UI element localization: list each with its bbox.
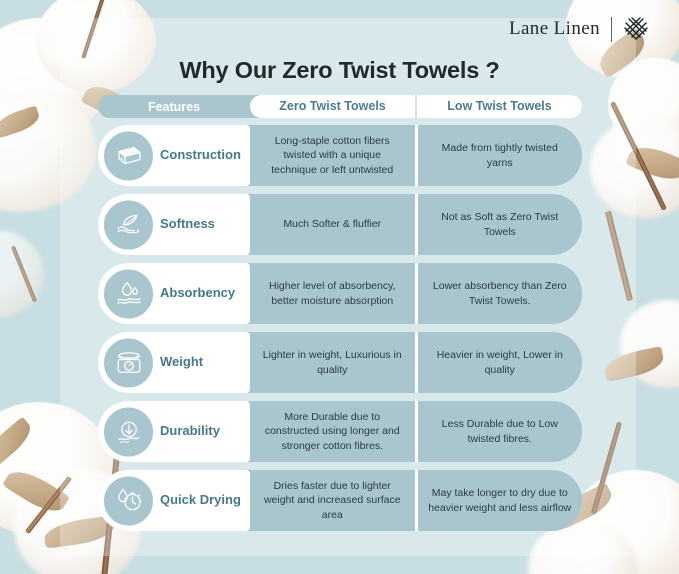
feature-label: Softness <box>160 217 215 232</box>
feature-label: Durability <box>160 424 220 439</box>
brand-logo: Lane Linen <box>509 16 649 42</box>
value-low-twist: Less Durable due to Low twisted fibres. <box>418 401 583 462</box>
feature-label: Absorbency <box>160 286 235 301</box>
down-arrow-circle-icon <box>102 405 155 458</box>
table-row: Weight Lighter in weight, Luxurious in q… <box>98 332 582 393</box>
feature-label: Quick Drying <box>160 493 241 508</box>
table-row: Absorbency Higher level of absorbency, b… <box>98 263 582 324</box>
table-row: Softness Much Softer & fluffier Not as S… <box>98 194 582 255</box>
table-row: Quick Drying Dries faster due to lighter… <box>98 470 582 531</box>
woven-lattice-icon <box>623 16 649 42</box>
table-row: Durability More Durable due to construct… <box>98 401 582 462</box>
column-header-features: Features <box>98 95 250 118</box>
water-droplet-icon <box>102 267 155 320</box>
feature-cell: Weight <box>98 332 250 393</box>
column-header-low-twist: Low Twist Towels <box>417 95 582 118</box>
droplet-stopwatch-icon <box>102 474 155 527</box>
value-low-twist: Heavier in weight, Lower in quality <box>418 332 583 393</box>
page-title: Why Our Zero Twist Towels ? <box>0 57 679 84</box>
comparison-table: Features Zero Twist Towels Low Twist Tow… <box>98 95 582 539</box>
value-low-twist: May take longer to dry due to heavier we… <box>418 470 583 531</box>
value-low-twist: Lower absorbency than Zero Twist Towels. <box>418 263 583 324</box>
value-zero-twist: Higher level of absorbency, better moist… <box>250 263 418 324</box>
feature-cell: Construction <box>98 125 250 186</box>
column-header-zero-twist: Zero Twist Towels <box>250 95 417 118</box>
value-zero-twist: Long-staple cotton fibers twisted with a… <box>250 125 418 186</box>
weighing-scale-icon <box>102 336 155 389</box>
feature-cell: Absorbency <box>98 263 250 324</box>
value-low-twist: Not as Soft as Zero Twist Towels <box>418 194 583 255</box>
logo-divider <box>611 17 612 42</box>
brand-name: Lane Linen <box>509 18 600 40</box>
feature-label: Construction <box>160 148 241 163</box>
table-row: Construction Long-staple cotton fibers t… <box>98 125 582 186</box>
feature-label: Weight <box>160 355 203 370</box>
folded-towel-icon <box>102 129 155 182</box>
value-zero-twist: Dries faster due to lighter weight and i… <box>250 470 418 531</box>
hand-feather-icon <box>102 198 155 251</box>
feature-cell: Durability <box>98 401 250 462</box>
feature-cell: Softness <box>98 194 250 255</box>
table-header-row: Features Zero Twist Towels Low Twist Tow… <box>98 95 582 118</box>
feature-cell: Quick Drying <box>98 470 250 531</box>
value-low-twist: Made from tightly twisted yarns <box>418 125 583 186</box>
value-zero-twist: Lighter in weight, Luxurious in quality <box>250 332 418 393</box>
value-zero-twist: More Durable due to constructed using lo… <box>250 401 418 462</box>
value-zero-twist: Much Softer & fluffier <box>250 194 418 255</box>
